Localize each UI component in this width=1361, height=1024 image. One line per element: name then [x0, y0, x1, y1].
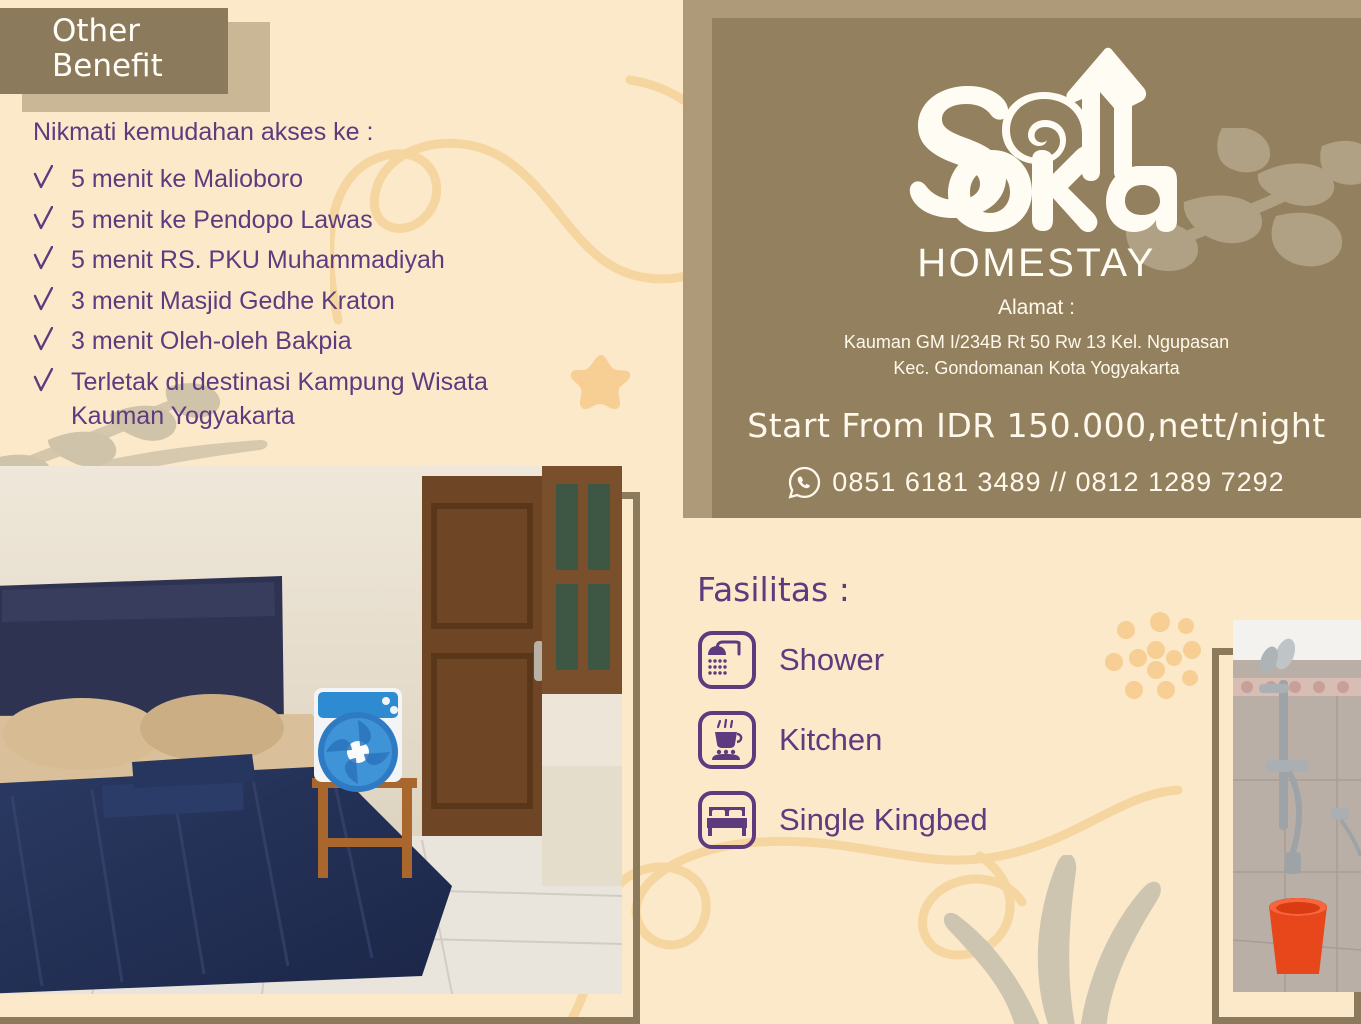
bathroom-photo	[1233, 620, 1361, 992]
benefit-label: Terletak di destinasi Kampung Wisata Kau…	[71, 365, 541, 434]
checkmark-icon	[33, 206, 53, 232]
kitchen-icon	[697, 710, 757, 770]
benefit-item: 5 menit ke Pendopo Lawas	[33, 203, 633, 238]
address-line-2: Kec. Gondomanan Kota Yogyakarta	[712, 355, 1361, 381]
checkmark-icon	[33, 287, 53, 313]
address-line-1: Kauman GM I/234B Rt 50 Rw 13 Kel. Ngupas…	[712, 329, 1361, 355]
benefit-item: Terletak di destinasi Kampung Wisata Kau…	[33, 365, 633, 434]
facility-label: Shower	[779, 642, 884, 678]
facility-label: Single Kingbed	[779, 802, 988, 838]
address-label: Alamat :	[712, 296, 1361, 320]
facility-item-shower: Shower	[697, 630, 988, 690]
benefit-item: 5 menit ke Malioboro	[33, 162, 633, 197]
checkmark-icon	[33, 246, 53, 272]
dot-cluster-decoration	[1098, 606, 1208, 706]
brand-panel: HOMESTAY Alamat : Kauman GM I/234B Rt 50…	[712, 18, 1361, 518]
checkmark-icon	[33, 165, 53, 191]
price-text: Start From IDR 150.000,nett/night	[712, 406, 1361, 445]
facilities-list: Shower Kitchen	[697, 630, 988, 870]
benefit-label: 5 menit ke Malioboro	[71, 162, 303, 197]
benefits-intro: Nikmati kemudahan akses ke :	[33, 118, 373, 147]
checkmark-icon	[33, 368, 53, 394]
logo-subtitle: HOMESTAY	[712, 241, 1361, 286]
benefit-label: 5 menit RS. PKU Muhammadiyah	[71, 243, 445, 278]
bed-icon	[697, 790, 757, 850]
contact-numbers[interactable]: 0851 6181 3489 // 0812 1289 7292	[832, 467, 1284, 498]
benefit-label: 5 menit ke Pendopo Lawas	[71, 203, 373, 238]
facilities-title: Fasilitas :	[697, 570, 850, 609]
leaf-blades-decoration	[930, 855, 1190, 1024]
facility-item-kitchen: Kitchen	[697, 710, 988, 770]
other-benefit-title-line2: Benefit	[52, 48, 163, 84]
benefit-label: 3 menit Masjid Gedhe Kraton	[71, 284, 395, 319]
checkmark-icon	[33, 327, 53, 353]
benefits-list: 5 menit ke Malioboro 5 menit ke Pendopo …	[33, 162, 633, 440]
facility-item-bed: Single Kingbed	[697, 790, 988, 850]
shower-icon	[697, 630, 757, 690]
address-block: Alamat : Kauman GM I/234B Rt 50 Rw 13 Ke…	[712, 296, 1361, 381]
facility-label: Kitchen	[779, 722, 882, 758]
other-benefit-title: Other Benefit	[52, 14, 272, 83]
other-benefit-title-line1: Other	[52, 13, 140, 49]
benefit-item: 3 menit Oleh-oleh Bakpia	[33, 324, 633, 359]
soka-wordmark-with-house-icon	[882, 40, 1192, 245]
whatsapp-icon	[788, 466, 821, 499]
benefit-item: 3 menit Masjid Gedhe Kraton	[33, 284, 633, 319]
benefit-label: 3 menit Oleh-oleh Bakpia	[71, 324, 352, 359]
contact-block: 0851 6181 3489 // 0812 1289 7292	[712, 466, 1361, 499]
brand-logo: HOMESTAY	[712, 40, 1361, 286]
bedroom-photo	[0, 466, 622, 994]
benefit-item: 5 menit RS. PKU Muhammadiyah	[33, 243, 633, 278]
flyer-canvas: HOMESTAY Alamat : Kauman GM I/234B Rt 50…	[0, 0, 1361, 1024]
